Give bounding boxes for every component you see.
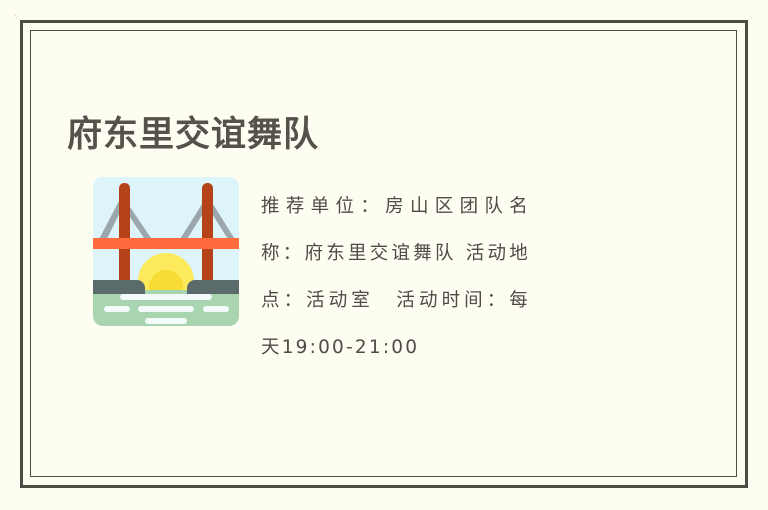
article-page: 府东里交谊舞队 bbox=[0, 0, 768, 510]
article-content: 府东里交谊舞队 bbox=[67, 67, 700, 440]
suspension-bridge-sunset-icon bbox=[93, 177, 239, 326]
decorative-frame-inner: 府东里交谊舞队 bbox=[30, 30, 737, 477]
article-body: 推荐单位：房山区团队名称：府东里交谊舞队 活动地点：活动室 活动时间：每天19:… bbox=[67, 177, 700, 371]
paper-speck bbox=[14, 14, 16, 16]
thumbnail-image bbox=[93, 177, 239, 326]
decorative-frame-outer: 府东里交谊舞队 bbox=[20, 20, 748, 488]
page-title: 府东里交谊舞队 bbox=[67, 115, 319, 155]
